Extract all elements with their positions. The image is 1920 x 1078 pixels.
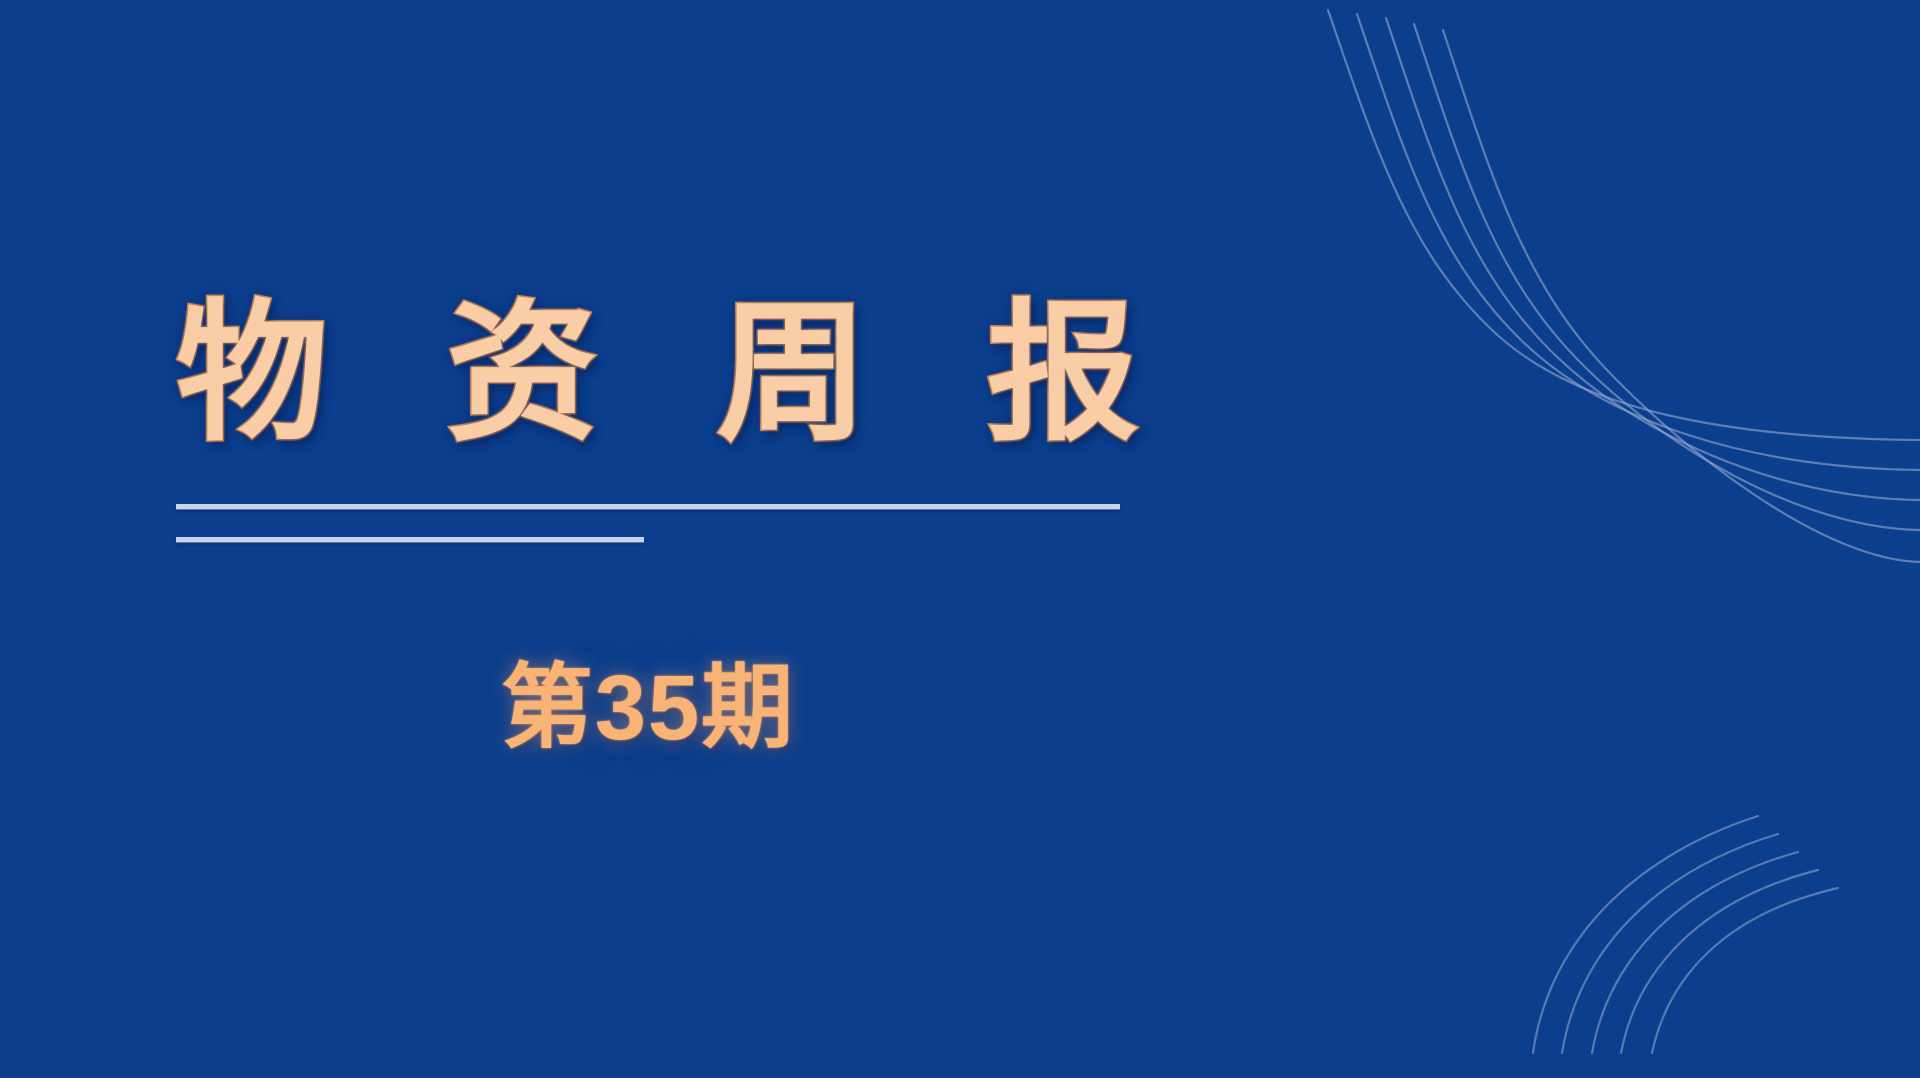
title-rule-short [176, 537, 644, 542]
title-slide: 物 资 周 报 第35期 [0, 0, 1920, 1078]
page-title: 物 资 周 报 [176, 286, 1136, 462]
title-rule-long [176, 504, 1120, 509]
issue-label: 第35期 [176, 654, 1120, 763]
title-block: 物 资 周 报 [176, 286, 1136, 462]
bottom-right-curve-decoration [1500, 748, 1920, 1078]
top-right-curve-decoration [1280, 0, 1920, 600]
